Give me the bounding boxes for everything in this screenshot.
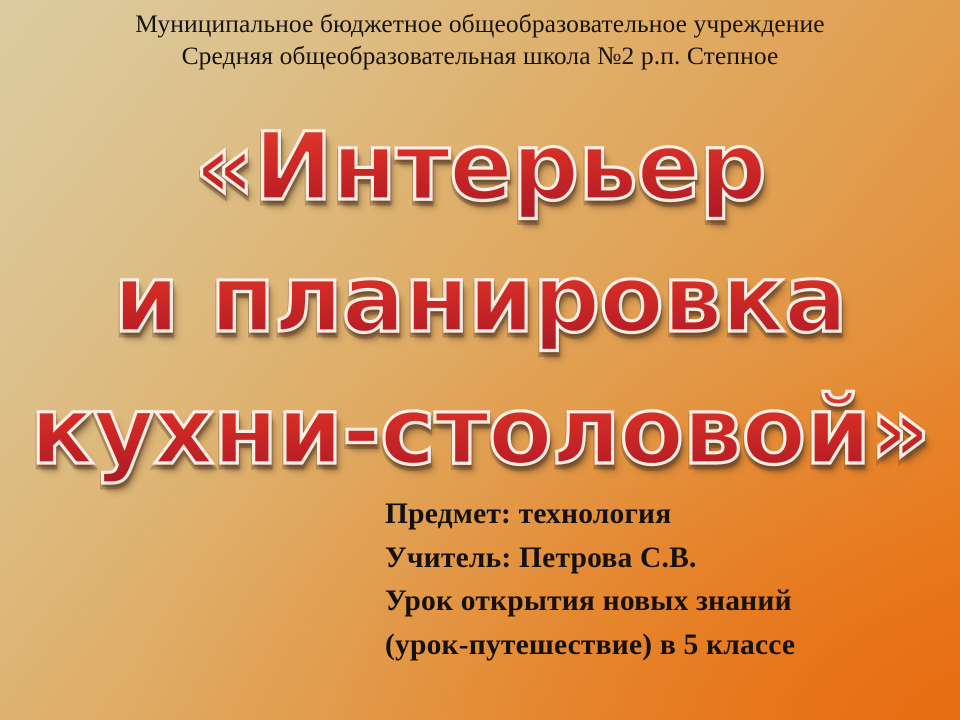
lesson-type: Урок открытия новых знаний bbox=[385, 580, 925, 624]
lesson-info-block: Предмет: технология Учитель: Петрова С.В… bbox=[385, 493, 925, 667]
slide-title-line-3: кухни-столовой» bbox=[0, 366, 960, 498]
lesson-subject: Предмет: технология bbox=[385, 493, 925, 537]
lesson-format: (урок-путешествие) в 5 классе bbox=[385, 624, 925, 668]
slide-title-line-1: «Интерьер bbox=[0, 102, 960, 234]
slide-title: «Интерьер и планировка кухни-столовой» bbox=[0, 102, 960, 498]
slide-title-line-2: и планировка bbox=[0, 234, 960, 366]
institution-header-line-1: Муниципальное бюджетное общеобразователь… bbox=[0, 8, 960, 40]
institution-header-line-2: Средняя общеобразовательная школа №2 р.п… bbox=[0, 40, 960, 72]
presentation-title-slide: Муниципальное бюджетное общеобразователь… bbox=[0, 0, 960, 720]
institution-header: Муниципальное бюджетное общеобразователь… bbox=[0, 8, 960, 72]
lesson-teacher: Учитель: Петрова С.В. bbox=[385, 537, 925, 581]
